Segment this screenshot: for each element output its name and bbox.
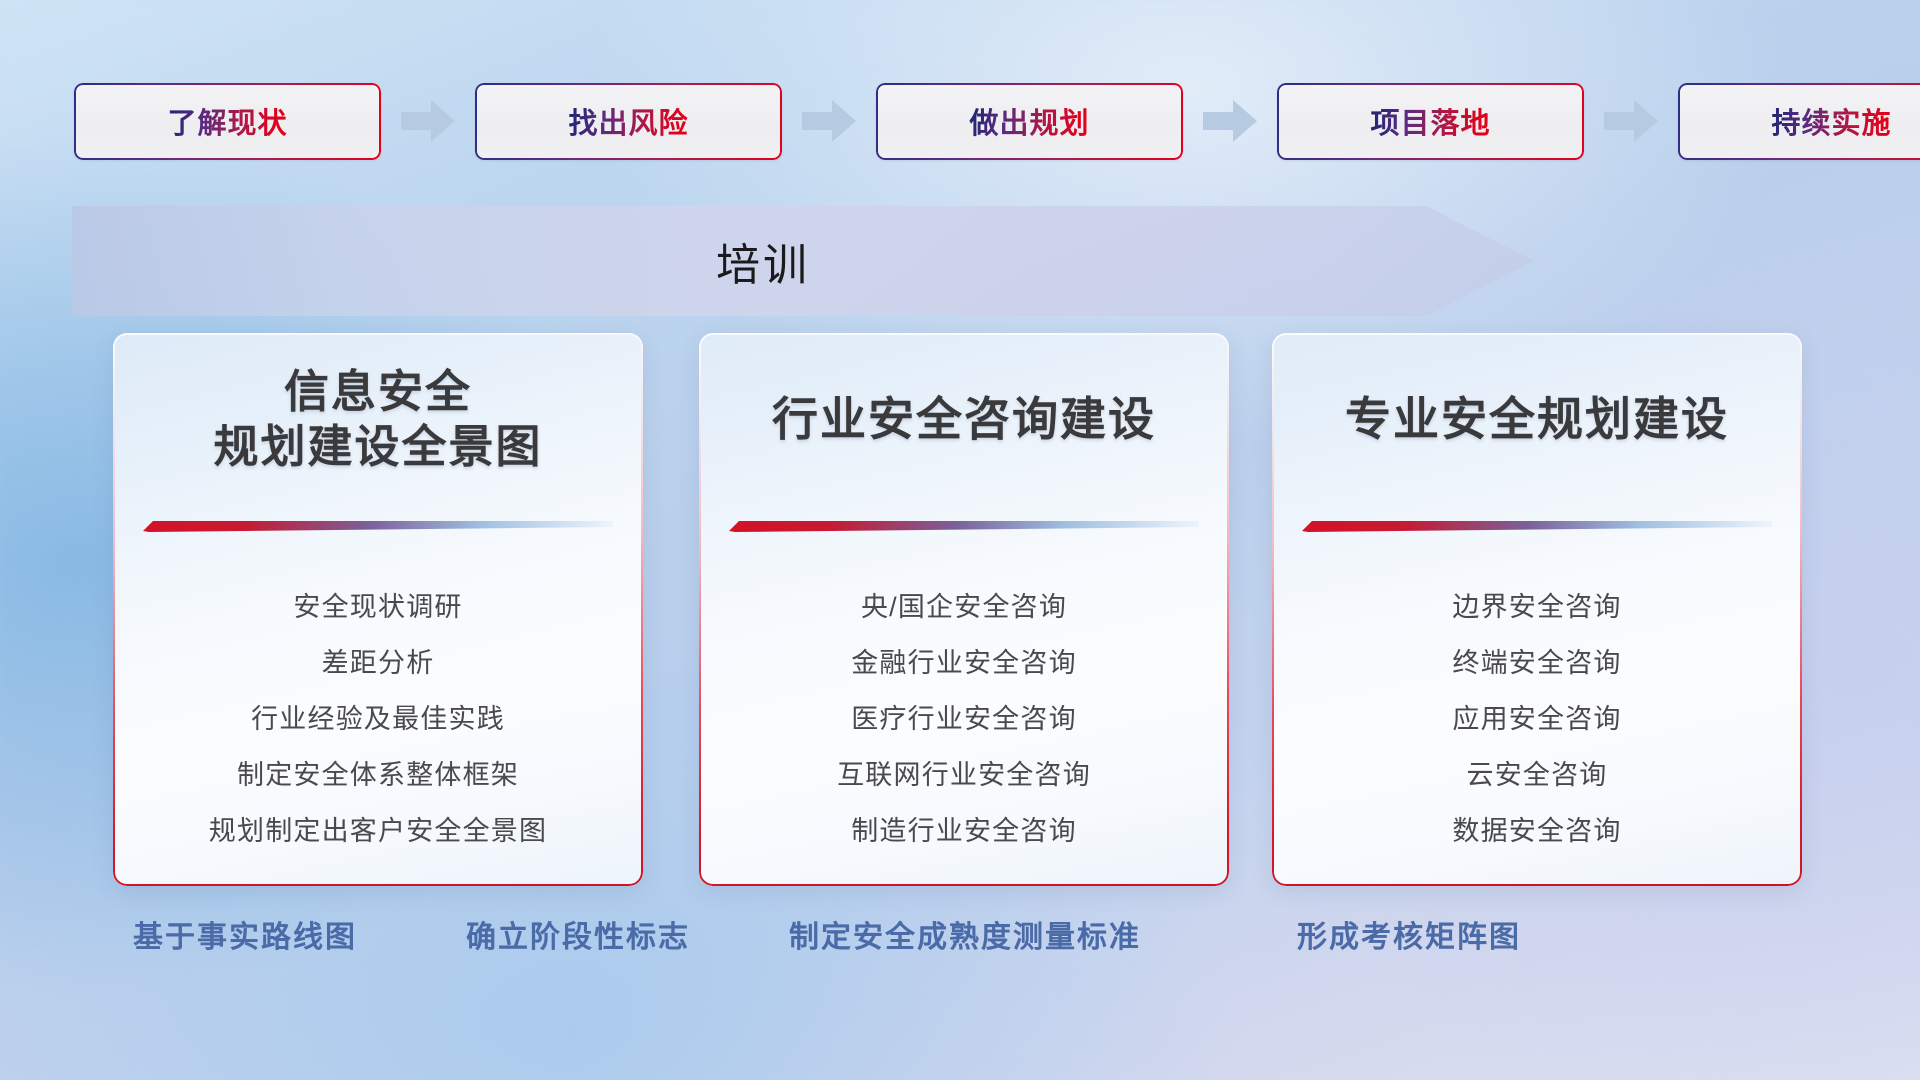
list-item: 规划制定出客户安全全景图: [209, 809, 547, 848]
card-information-security-panorama[interactable]: 信息安全 规划建设全景图 安全现状调研 差距分析 行业经验及最佳实践: [113, 333, 643, 886]
arrow-right-icon: [802, 100, 856, 142]
list-item: 央/国企安全咨询: [861, 585, 1067, 624]
card-professional-security-planning[interactable]: 专业安全规划建设 边界安全咨询 终端安全咨询 应用安全咨询 云安全: [1272, 333, 1802, 886]
list-item: 差距分析: [322, 641, 435, 680]
bottom-label: 制定安全成熟度测量标准: [789, 912, 1141, 956]
card-divider: [143, 521, 613, 532]
step-label: 项目落地: [1370, 100, 1490, 142]
card-title: 专业安全规划建设: [1272, 391, 1802, 447]
step-label: 持续实施: [1771, 100, 1891, 142]
list-item: 边界安全咨询: [1452, 585, 1621, 624]
process-steps-row: 了解现状 找出风险 做出规划 项目落地 持续实施: [0, 78, 1920, 164]
list-item: 金融行业安全咨询: [851, 641, 1077, 680]
step-box-2[interactable]: 找出风险: [475, 83, 782, 160]
list-item: 互联网行业安全咨询: [837, 753, 1091, 792]
bottom-label: 形成考核矩阵图: [1297, 912, 1521, 956]
card-list: 边界安全咨询 终端安全咨询 应用安全咨询 云安全咨询 数据安全咨询: [1272, 585, 1802, 848]
step-label: 找出风险: [568, 100, 688, 142]
arrow-right-icon: [1604, 100, 1658, 142]
step-box-1[interactable]: 了解现状: [74, 83, 381, 160]
step-label: 了解现状: [167, 100, 287, 142]
step-box-3[interactable]: 做出规划: [876, 83, 1183, 160]
bottom-label: 基于事实路线图: [133, 912, 357, 956]
arrow-right-icon: [401, 100, 455, 142]
card-title: 信息安全 规划建设全景图: [113, 365, 643, 475]
list-item: 行业经验及最佳实践: [251, 697, 505, 736]
list-item: 数据安全咨询: [1452, 809, 1621, 848]
list-item: 制定安全体系整体框架: [237, 753, 519, 792]
list-item: 安全现状调研: [293, 585, 462, 624]
step-box-5[interactable]: 持续实施: [1678, 83, 1920, 160]
card-divider: [729, 521, 1199, 532]
card-industry-security-consulting[interactable]: 行业安全咨询建设 央/国企安全咨询 金融行业安全咨询 医疗行业安全咨询: [699, 333, 1229, 886]
step-box-4[interactable]: 项目落地: [1277, 83, 1584, 160]
card-divider: [1302, 521, 1772, 532]
cards-container: 信息安全 规划建设全景图 安全现状调研 差距分析 行业经验及最佳实践: [0, 333, 1920, 886]
training-banner: 培训: [72, 206, 1534, 316]
list-item: 应用安全咨询: [1452, 697, 1621, 736]
list-item: 终端安全咨询: [1452, 641, 1621, 680]
bottom-label: 确立阶段性标志: [466, 912, 690, 956]
step-label: 做出规划: [969, 100, 1089, 142]
card-title: 行业安全咨询建设: [699, 391, 1229, 447]
list-item: 医疗行业安全咨询: [851, 697, 1077, 736]
banner-title: 培训: [72, 206, 1534, 316]
card-list: 安全现状调研 差距分析 行业经验及最佳实践 制定安全体系整体框架 规划制定出客户…: [113, 585, 643, 848]
bottom-labels-row: 基于事实路线图 确立阶段性标志 制定安全成熟度测量标准 形成考核矩阵图: [0, 912, 1920, 972]
list-item: 制造行业安全咨询: [851, 809, 1077, 848]
arrow-right-icon: [1203, 100, 1257, 142]
list-item: 云安全咨询: [1467, 753, 1608, 792]
card-list: 央/国企安全咨询 金融行业安全咨询 医疗行业安全咨询 互联网行业安全咨询 制造行…: [699, 585, 1229, 848]
